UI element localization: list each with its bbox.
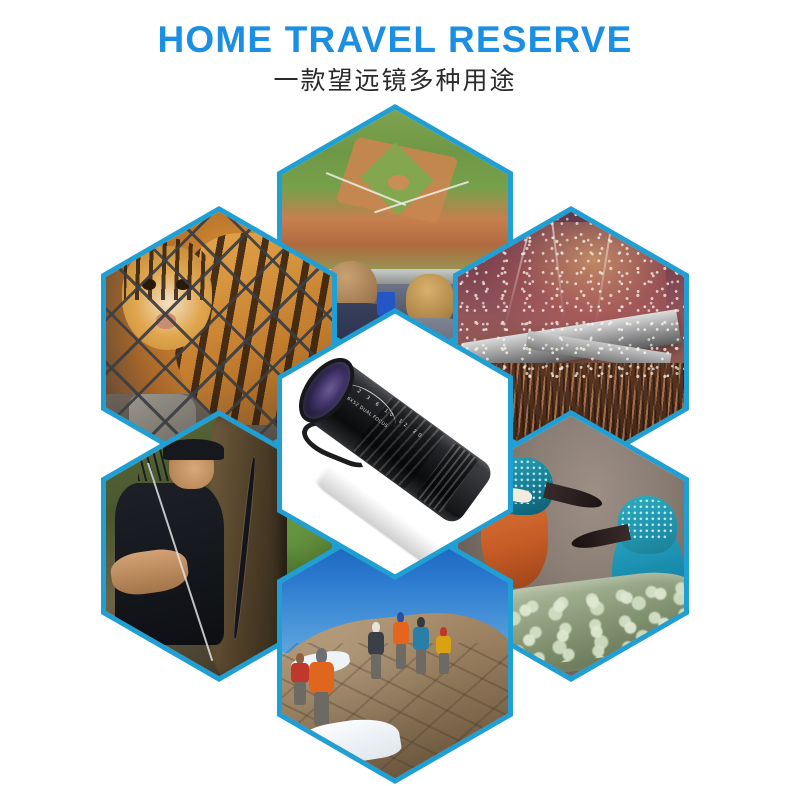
hiker-2-backpack: [368, 632, 384, 655]
monocular-telescope: 1 2 3 6 10 12 20 16X52 DUAL FOCUS: [294, 355, 496, 530]
kingfisher-left-beak: [543, 482, 604, 511]
archer-cap: [163, 439, 224, 460]
hiker-1: [309, 648, 334, 726]
hiker-4: [413, 617, 429, 674]
hiker-3: [393, 612, 409, 669]
hiker-3-legs: [396, 644, 406, 669]
hexagon-collage: Spectators watching a baseball game from…: [0, 0, 790, 786]
hiker-5-backpack: [436, 636, 452, 655]
hiker-5-legs: [439, 653, 449, 674]
hiker-1-backpack: [309, 662, 334, 693]
hiker-2: [368, 622, 384, 679]
hiker-5: [436, 627, 452, 674]
hiker-3-backpack: [393, 622, 409, 645]
hiker-6: [291, 653, 309, 705]
hiker-2-legs: [371, 654, 381, 679]
hiker-6-backpack: [291, 663, 309, 684]
hiker-4-legs: [416, 649, 426, 674]
tiger-caption: Tiger pacing behind a chain-link fence a…: [106, 212, 107, 213]
pitchers-mound: [388, 175, 408, 191]
baseball-caption: Spectators watching a baseball game from…: [282, 110, 283, 111]
page-title: HOME TRAVEL RESERVE: [0, 0, 790, 60]
archer-caption: Archer in black shirt drawing a bow in t…: [106, 416, 107, 417]
hiker-6-legs: [294, 682, 306, 705]
product-banner: HOME TRAVEL RESERVE 一款望远镜多种用途: [0, 0, 790, 786]
hiker-4-backpack: [413, 627, 429, 650]
page-subtitle: 一款望远镜多种用途: [0, 60, 790, 95]
hiker-1-legs: [314, 692, 330, 726]
banner-header: HOME TRAVEL RESERVE 一款望远镜多种用途: [0, 0, 790, 94]
